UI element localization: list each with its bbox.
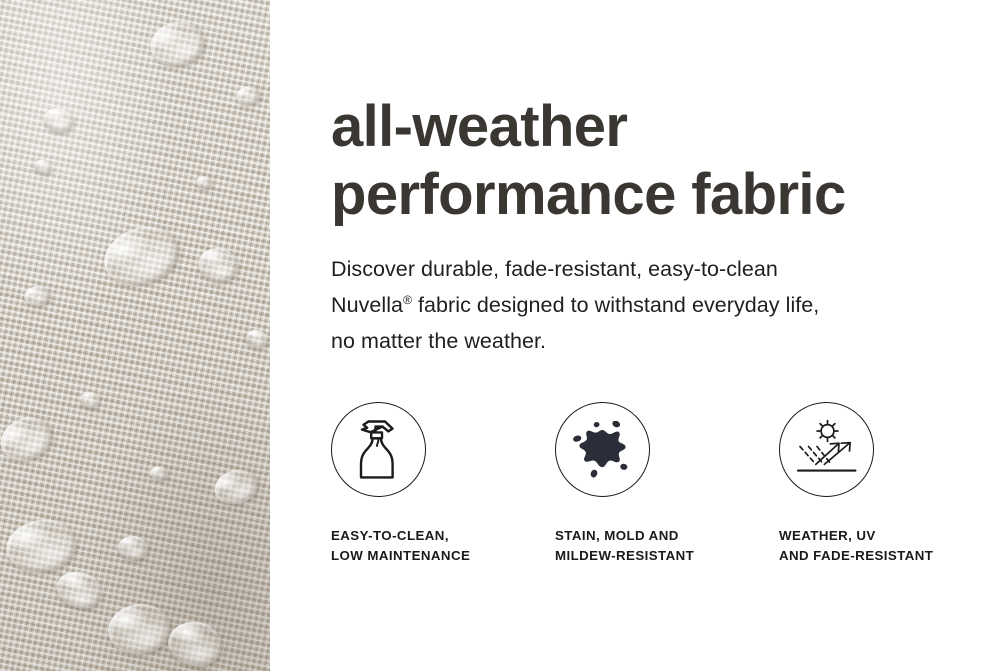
subcopy-line-1: Discover durable, fade-resistant, easy-t… — [331, 251, 951, 287]
feature-caption-line-1: EASY-TO-CLEAN, — [331, 526, 555, 546]
feature-caption-line-2: LOW MAINTENANCE — [331, 546, 555, 566]
feature-caption: EASY-TO-CLEAN, LOW MAINTENANCE — [331, 497, 555, 566]
spray-bottle-icon — [351, 417, 407, 483]
subcopy-line-2-rest: fabric designed to withstand everyday li… — [412, 293, 819, 317]
promo-content: all-weather performance fabric Discover … — [270, 0, 1005, 671]
fabric-photo-panel — [0, 0, 270, 671]
feature-caption: STAIN, MOLD AND MILDEW-RESISTANT — [555, 497, 779, 566]
stain-splat-icon — [572, 421, 634, 479]
feature-icon-circle — [779, 402, 874, 497]
feature-caption: WEATHER, UV AND FADE-RESISTANT — [779, 497, 1003, 566]
feature-list: EASY-TO-CLEAN, LOW MAINTENANCE — [331, 402, 991, 566]
feature-weather-uv-resistant: WEATHER, UV AND FADE-RESISTANT — [779, 402, 1003, 566]
feature-easy-to-clean: EASY-TO-CLEAN, LOW MAINTENANCE — [331, 402, 555, 566]
feature-caption-line-1: WEATHER, UV — [779, 526, 1003, 546]
feature-icon-circle — [555, 402, 650, 497]
feature-caption-line-1: STAIN, MOLD AND — [555, 526, 779, 546]
headline-line-1: all-weather — [331, 93, 981, 161]
page-title: all-weather performance fabric — [331, 0, 981, 229]
sun-uv-reflect-icon — [795, 419, 859, 481]
feature-stain-resistant: STAIN, MOLD AND MILDEW-RESISTANT — [555, 402, 779, 566]
feature-caption-line-2: AND FADE-RESISTANT — [779, 546, 1003, 566]
feature-caption-line-2: MILDEW-RESISTANT — [555, 546, 779, 566]
headline-line-2: performance fabric — [331, 161, 981, 229]
subcopy-line-3: no matter the weather. — [331, 323, 951, 359]
subcopy-paragraph: Discover durable, fade-resistant, easy-t… — [331, 229, 951, 359]
registered-trademark-mark: ® — [403, 293, 412, 307]
brand-name-nuvella: Nuvella — [331, 293, 403, 317]
all-weather-fabric-promo-banner: all-weather performance fabric Discover … — [0, 0, 1005, 671]
feature-icon-circle — [331, 402, 426, 497]
subcopy-line-2: Nuvella® fabric designed to withstand ev… — [331, 287, 951, 323]
